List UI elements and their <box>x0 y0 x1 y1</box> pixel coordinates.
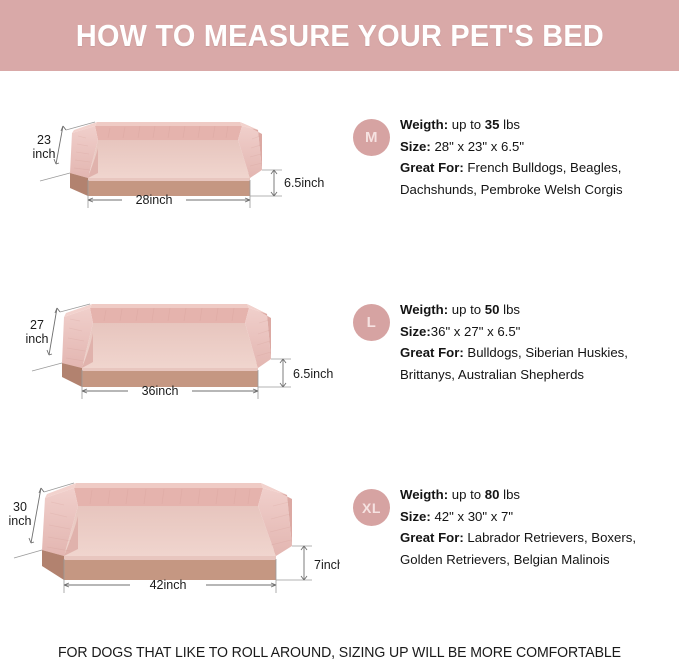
weight-unit: lbs <box>503 117 520 132</box>
weight-unit: lbs <box>503 487 520 502</box>
size-line-m: Size: 28" x 23" x 6.5" <box>400 136 676 158</box>
page-title: HOW TO MEASURE YOUR PET'S BED <box>75 18 603 54</box>
weight-mid: up to <box>452 117 481 132</box>
size-line-l: Size:36" x 27" x 6.5" <box>400 321 676 343</box>
bed-sleeping-pad <box>82 323 258 368</box>
dimension-height-xl: 7inch <box>276 546 340 580</box>
bed-bolster-left <box>42 483 78 556</box>
width-value-m: 28inch <box>136 193 173 207</box>
bed-illustration-l: 27 inch 36inch 6.5inch <box>0 263 340 448</box>
great-for-line-l: Great For: Bulldogs, Siberian Huskies, <box>400 342 676 364</box>
depth-value-l: 27 <box>30 318 44 332</box>
weight-value: 50 <box>485 302 500 317</box>
size-details-xl: Weigth: up to 80 lbs Size: 42" x 30" x 7… <box>400 484 676 570</box>
size-row-l: 27 inch 36inch 6.5inch L <box>0 263 679 448</box>
depth-unit-xl: inch <box>9 514 32 528</box>
weight-mid: up to <box>452 487 481 502</box>
weight-line-xl: Weigth: up to 80 lbs <box>400 484 676 506</box>
size-label: Size: <box>400 139 431 154</box>
footer-note: FOR DOGS THAT LIKE TO ROLL AROUND, SIZIN… <box>7 645 672 661</box>
height-value-m: 6.5inch <box>284 176 324 190</box>
size-row-xl: 30 inch 42inch 7inch XL <box>0 448 679 633</box>
bed-illustration-m: 23 inch 28inch 6.5inch <box>0 78 340 263</box>
size-label: Size: <box>400 324 431 339</box>
size-badge-l: L <box>353 304 390 341</box>
great-for-line-xl: Great For: Labrador Retrievers, Boxers, <box>400 527 676 549</box>
weight-label: Weigth: <box>400 487 448 502</box>
size-badge-m: M <box>353 119 390 156</box>
weight-mid: up to <box>452 302 481 317</box>
depth-value-m: 23 <box>37 133 51 147</box>
size-value: 42" x 30" x 7" <box>431 509 513 524</box>
weight-line-l: Weigth: up to 50 lbs <box>400 299 676 321</box>
page-header-banner: HOW TO MEASURE YOUR PET'S BED <box>0 0 679 71</box>
size-label: Size: <box>400 509 431 524</box>
dimension-height-m: 6.5inch <box>250 170 324 196</box>
weight-label: Weigth: <box>400 302 448 317</box>
size-details-l: Weigth: up to 50 lbs Size:36" x 27" x 6.… <box>400 299 676 385</box>
width-value-xl: 42inch <box>150 578 187 592</box>
bed-front-lip <box>82 368 258 371</box>
great-for-value: Bulldogs, Siberian Huskies, <box>464 345 628 360</box>
size-info-xl: XL Weigth: up to 80 lbs Size: 42" x 30" … <box>348 448 679 633</box>
size-badge-xl: XL <box>353 489 390 526</box>
great-for-value: French Bulldogs, Beagles, <box>464 160 622 175</box>
width-value-l: 36inch <box>142 384 179 398</box>
great-for-line2-xl: Golden Retrievers, Belgian Malinois <box>400 549 676 571</box>
size-info-m: M Weigth: up to 35 lbs Size: 28" x 23" x… <box>348 78 679 263</box>
size-row-m: 23 inch 28inch 6.5inch <box>0 78 679 263</box>
great-for-line2-l: Brittanys, Australian Shepherds <box>400 364 676 386</box>
bed-front-lip <box>88 178 250 181</box>
depth-unit-l: inch <box>26 332 49 346</box>
bed-sleeping-pad <box>64 506 276 556</box>
bed-front-lip <box>64 556 276 560</box>
size-details-m: Weigth: up to 35 lbs Size: 28" x 23" x 6… <box>400 114 676 200</box>
great-for-label: Great For: <box>400 530 464 545</box>
weight-value: 80 <box>485 487 500 502</box>
weight-label: Weigth: <box>400 117 448 132</box>
dimension-height-l: 6.5inch <box>258 359 333 387</box>
weight-value: 35 <box>485 117 500 132</box>
great-for-line2-m: Dachshunds, Pembroke Welsh Corgis <box>400 179 676 201</box>
height-value-l: 6.5inch <box>293 367 333 381</box>
weight-line-m: Weigth: up to 35 lbs <box>400 114 676 136</box>
great-for-label: Great For: <box>400 345 464 360</box>
weight-unit: lbs <box>503 302 520 317</box>
great-for-line-m: Great For: French Bulldogs, Beagles, <box>400 157 676 179</box>
depth-unit-m: inch <box>33 147 56 161</box>
great-for-label: Great For: <box>400 160 464 175</box>
height-value-xl: 7inch <box>314 558 340 572</box>
bed-illustration-xl: 30 inch 42inch 7inch <box>0 448 340 633</box>
size-info-l: L Weigth: up to 50 lbs Size:36" x 27" x … <box>348 263 679 448</box>
size-value: 28" x 23" x 6.5" <box>431 139 524 154</box>
bed-sleeping-pad <box>88 140 250 178</box>
size-value: 36" x 27" x 6.5" <box>431 324 521 339</box>
depth-value-xl: 30 <box>13 500 27 514</box>
size-line-xl: Size: 42" x 30" x 7" <box>400 506 676 528</box>
bed-bolster-back <box>74 483 263 506</box>
great-for-value: Labrador Retrievers, Boxers, <box>464 530 636 545</box>
